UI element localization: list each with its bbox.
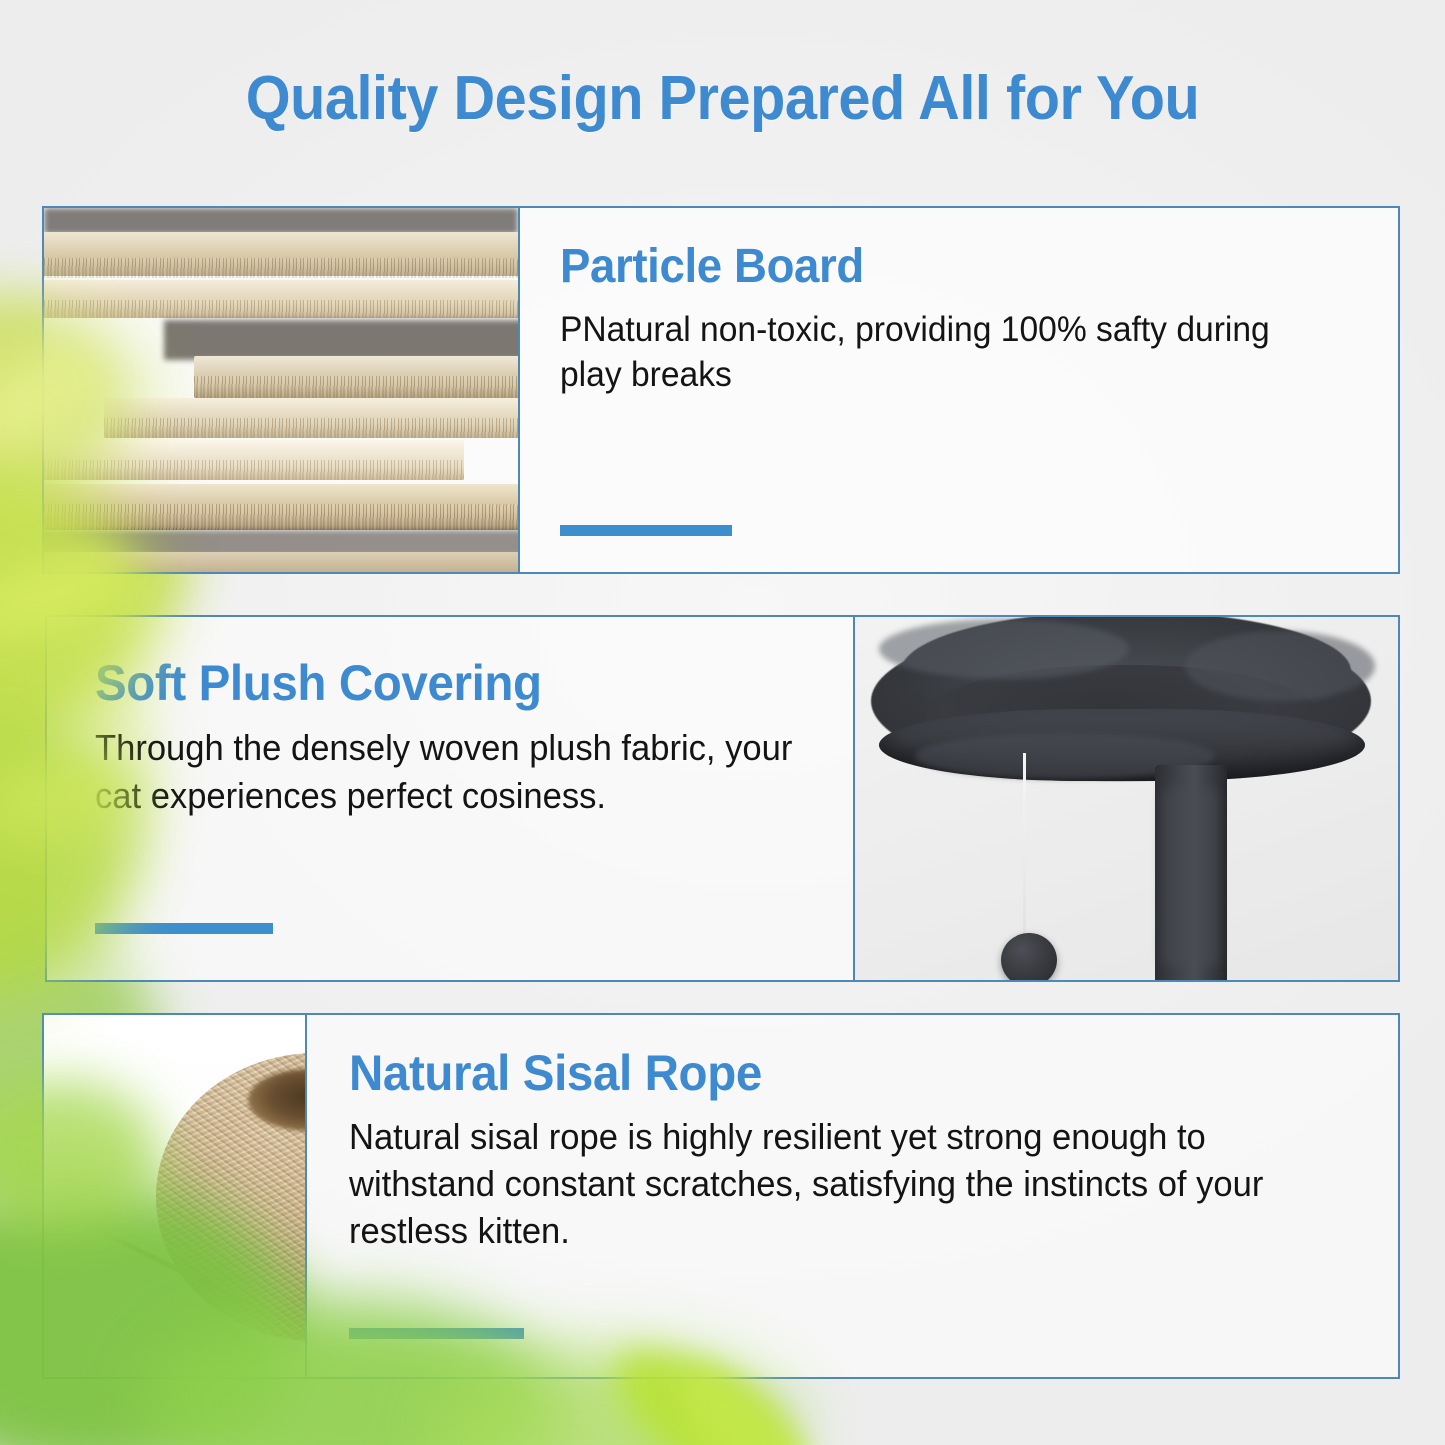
- particle-board-title: Particle Board: [560, 242, 1318, 293]
- plush-text-cell: Soft Plush Covering Through the densely …: [47, 617, 855, 980]
- particle-board-body: PNatural non-toxic, providing 100% safty…: [560, 307, 1326, 398]
- pb-slab-edge-1: [44, 258, 520, 278]
- plush-body: Through the densely woven plush fabric, …: [95, 724, 794, 820]
- page-title: Quality Design Prepared All for You: [51, 66, 1395, 133]
- sisal-image-cell: [44, 1015, 307, 1377]
- toy-pompom: [1001, 933, 1057, 980]
- plush-title: Soft Plush Covering: [95, 657, 787, 710]
- plush-photo: [855, 617, 1398, 980]
- sisal-body: Natural sisal rope is highly resilient y…: [349, 1114, 1318, 1254]
- pb-slab-edge-3: [194, 376, 520, 398]
- pb-gap-shadow-1: [44, 208, 518, 234]
- sisal-title: Natural Sisal Rope: [349, 1047, 1308, 1100]
- pb-slab-edge-5: [44, 460, 464, 480]
- particle-board-text-cell: Particle Board PNatural non-toxic, provi…: [520, 208, 1398, 572]
- infographic-page: Quality Design Prepared All for You Part…: [0, 0, 1445, 1445]
- particle-board-accent-bar: [560, 525, 732, 536]
- feature-card-particle-board: Particle Board PNatural non-toxic, provi…: [42, 206, 1400, 574]
- particle-board-image-cell: [44, 208, 520, 572]
- pb-slab-7: [44, 552, 520, 572]
- sisal-text-cell: Natural Sisal Rope Natural sisal rope is…: [307, 1015, 1398, 1377]
- plush-fuzz-1: [879, 619, 1129, 679]
- plush-fuzz-2: [1185, 631, 1375, 701]
- feature-card-natural-sisal-rope: Natural Sisal Rope Natural sisal rope is…: [42, 1013, 1400, 1379]
- pb-slab-edge-2: [44, 300, 520, 318]
- feature-card-soft-plush-covering: Soft Plush Covering Through the densely …: [45, 615, 1400, 982]
- pb-slab-edge-6: [44, 504, 520, 530]
- plush-image-cell: [855, 617, 1398, 980]
- toy-string: [1023, 753, 1026, 941]
- pb-gap-shadow-2: [164, 320, 520, 360]
- plush-accent-bar: [95, 923, 273, 934]
- sisal-photo: [44, 1015, 305, 1377]
- plush-post-fuzz: [1161, 787, 1219, 967]
- pb-slab-edge-4: [104, 418, 520, 438]
- sisal-accent-bar: [349, 1328, 524, 1339]
